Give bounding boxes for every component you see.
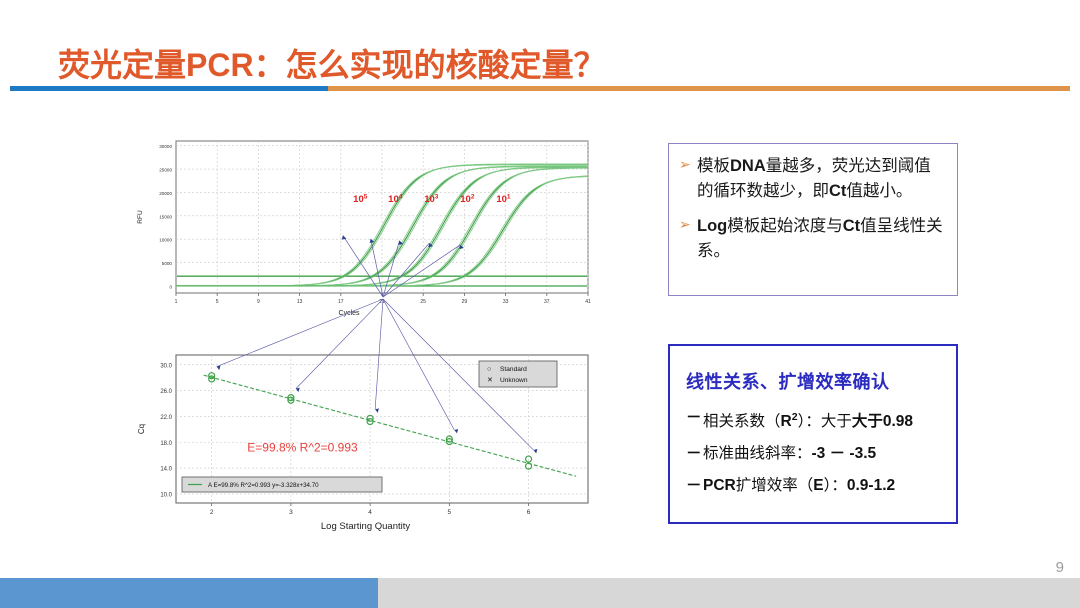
dash-bullet-icon: －: [686, 442, 703, 465]
x-tick-label: 41: [585, 299, 591, 305]
bullet-item: ➢ Log模板起始浓度与Ct值呈线性关系。: [679, 214, 945, 264]
y-tick-label: 0: [169, 284, 172, 289]
x-tick-label: 2: [210, 509, 214, 516]
y-tick-label: 5000: [162, 261, 173, 266]
slide-number: 9: [1056, 559, 1064, 576]
linearity-criteria-box: 线性关系、扩增效率确认 － 相关系数（R2）：大于大于0.98 － 标准曲线斜率…: [668, 344, 958, 524]
y-tick-label: 15000: [159, 214, 172, 219]
y-tick-label: 26.0: [160, 389, 172, 395]
dash-bullet-icon: －: [686, 406, 703, 429]
y-tick-label: 14.0: [160, 467, 172, 473]
criteria-item-slope: － 标准曲线斜率：-3 － -3.5: [686, 442, 942, 465]
y-axis-label: RFU: [137, 210, 144, 224]
bullet-text-1: 模板DNA量越多，荧光达到阈值的循环数越少，即Ct值越小。: [697, 154, 945, 204]
curve-legend-label: A E=99.8% R^2=0.993 y=-3.328x+34.70: [208, 482, 319, 489]
x-tick-label: 29: [462, 299, 468, 305]
criteria-item-r2: － 相关系数（R2）：大于大于0.98: [686, 406, 942, 433]
criteria-value-slope: -3 － -3.5: [812, 445, 877, 462]
x-tick-label: 4: [368, 509, 372, 516]
criteria-item-efficiency: － PCR扩增效率（E）：0.9-1.2: [686, 474, 942, 497]
y-tick-label: 30.0: [160, 363, 172, 369]
x-tick-label: 37: [544, 299, 550, 305]
x-tick-label: 3: [289, 509, 293, 516]
marker-legend-label: Standard: [500, 366, 527, 373]
amplification-plot-group: 0500010000150002000025000300001591317212…: [137, 141, 591, 317]
decade-exponent: 5: [364, 193, 368, 200]
amplification-note-box: ➢ 模板DNA量越多，荧光达到阈值的循环数越少，即Ct值越小。 ➢ Log模板起…: [668, 143, 958, 296]
x-tick-label: 13: [297, 299, 303, 305]
x-tick-label: 25: [420, 299, 426, 305]
y-tick-label: 22.0: [160, 415, 172, 421]
x-tick-label: 1: [175, 299, 178, 305]
y-tick-label: 25000: [159, 168, 172, 173]
title-rule-blue: [10, 86, 328, 91]
bullet-text-2: Log模板起始浓度与Ct值呈线性关系。: [697, 214, 945, 264]
pcr-figures: 0500010000150002000025000300001591317212…: [128, 133, 598, 558]
criteria-text-slope: 标准曲线斜率：-3 － -3.5: [703, 442, 876, 465]
dash-bullet-icon: －: [686, 474, 703, 497]
arrow-bullet-icon: ➢: [679, 214, 697, 235]
marker-legend-label: Unknown: [500, 377, 528, 384]
x-tick-label: 9: [257, 299, 260, 305]
arrow-bullet-icon: ➢: [679, 154, 697, 175]
x-axis-label: Log Starting Quantity: [321, 521, 410, 532]
y-tick-label: 20000: [159, 191, 172, 196]
marker-legend-symbol: ✕: [487, 377, 493, 384]
decade-exponent: 2: [471, 193, 475, 200]
criteria-value-efficiency: 0.9-1.2: [847, 477, 895, 494]
decade-exponent: 4: [399, 193, 403, 200]
charts-area: 0500010000150002000025000300001591317212…: [128, 133, 598, 558]
y-tick-label: 30000: [159, 144, 172, 149]
slide-canvas: 荧光定量PCR：怎么实现的核酸定量？ 050001000015000200002…: [0, 0, 1080, 608]
page-title: 荧光定量PCR：怎么实现的核酸定量？: [58, 40, 606, 86]
y-axis-label: Cq: [137, 424, 146, 434]
x-tick-label: 5: [448, 509, 452, 516]
criteria-value-r2: 大于0.98: [852, 413, 913, 430]
bullet-item: ➢ 模板DNA量越多，荧光达到阈值的循环数越少，即Ct值越小。: [679, 154, 945, 204]
x-tick-label: 5: [216, 299, 219, 305]
x-tick-label: 17: [338, 299, 344, 305]
x-tick-label: 33: [503, 299, 509, 305]
footer-bar-blue: [0, 578, 378, 608]
y-tick-label: 10.0: [160, 493, 172, 499]
y-tick-label: 10000: [159, 238, 172, 243]
efficiency-annotation: E=99.8% R^2=0.993: [247, 440, 358, 454]
linearity-title: 线性关系、扩增效率确认: [686, 368, 942, 394]
criteria-text-r2: 相关系数（R2）：大于大于0.98: [703, 406, 913, 433]
marker-legend-symbol: ○: [487, 366, 491, 373]
standard-curve-group: 10.014.018.022.026.030.023456CqLog Start…: [137, 299, 588, 532]
y-tick-label: 18.0: [160, 441, 172, 447]
decade-exponent: 1: [507, 193, 511, 200]
criteria-text-efficiency: PCR扩增效率（E）：0.9-1.2: [703, 474, 895, 497]
title-rule-orange: [328, 86, 1070, 91]
decade-exponent: 3: [435, 193, 439, 200]
x-tick-label: 6: [527, 509, 531, 516]
